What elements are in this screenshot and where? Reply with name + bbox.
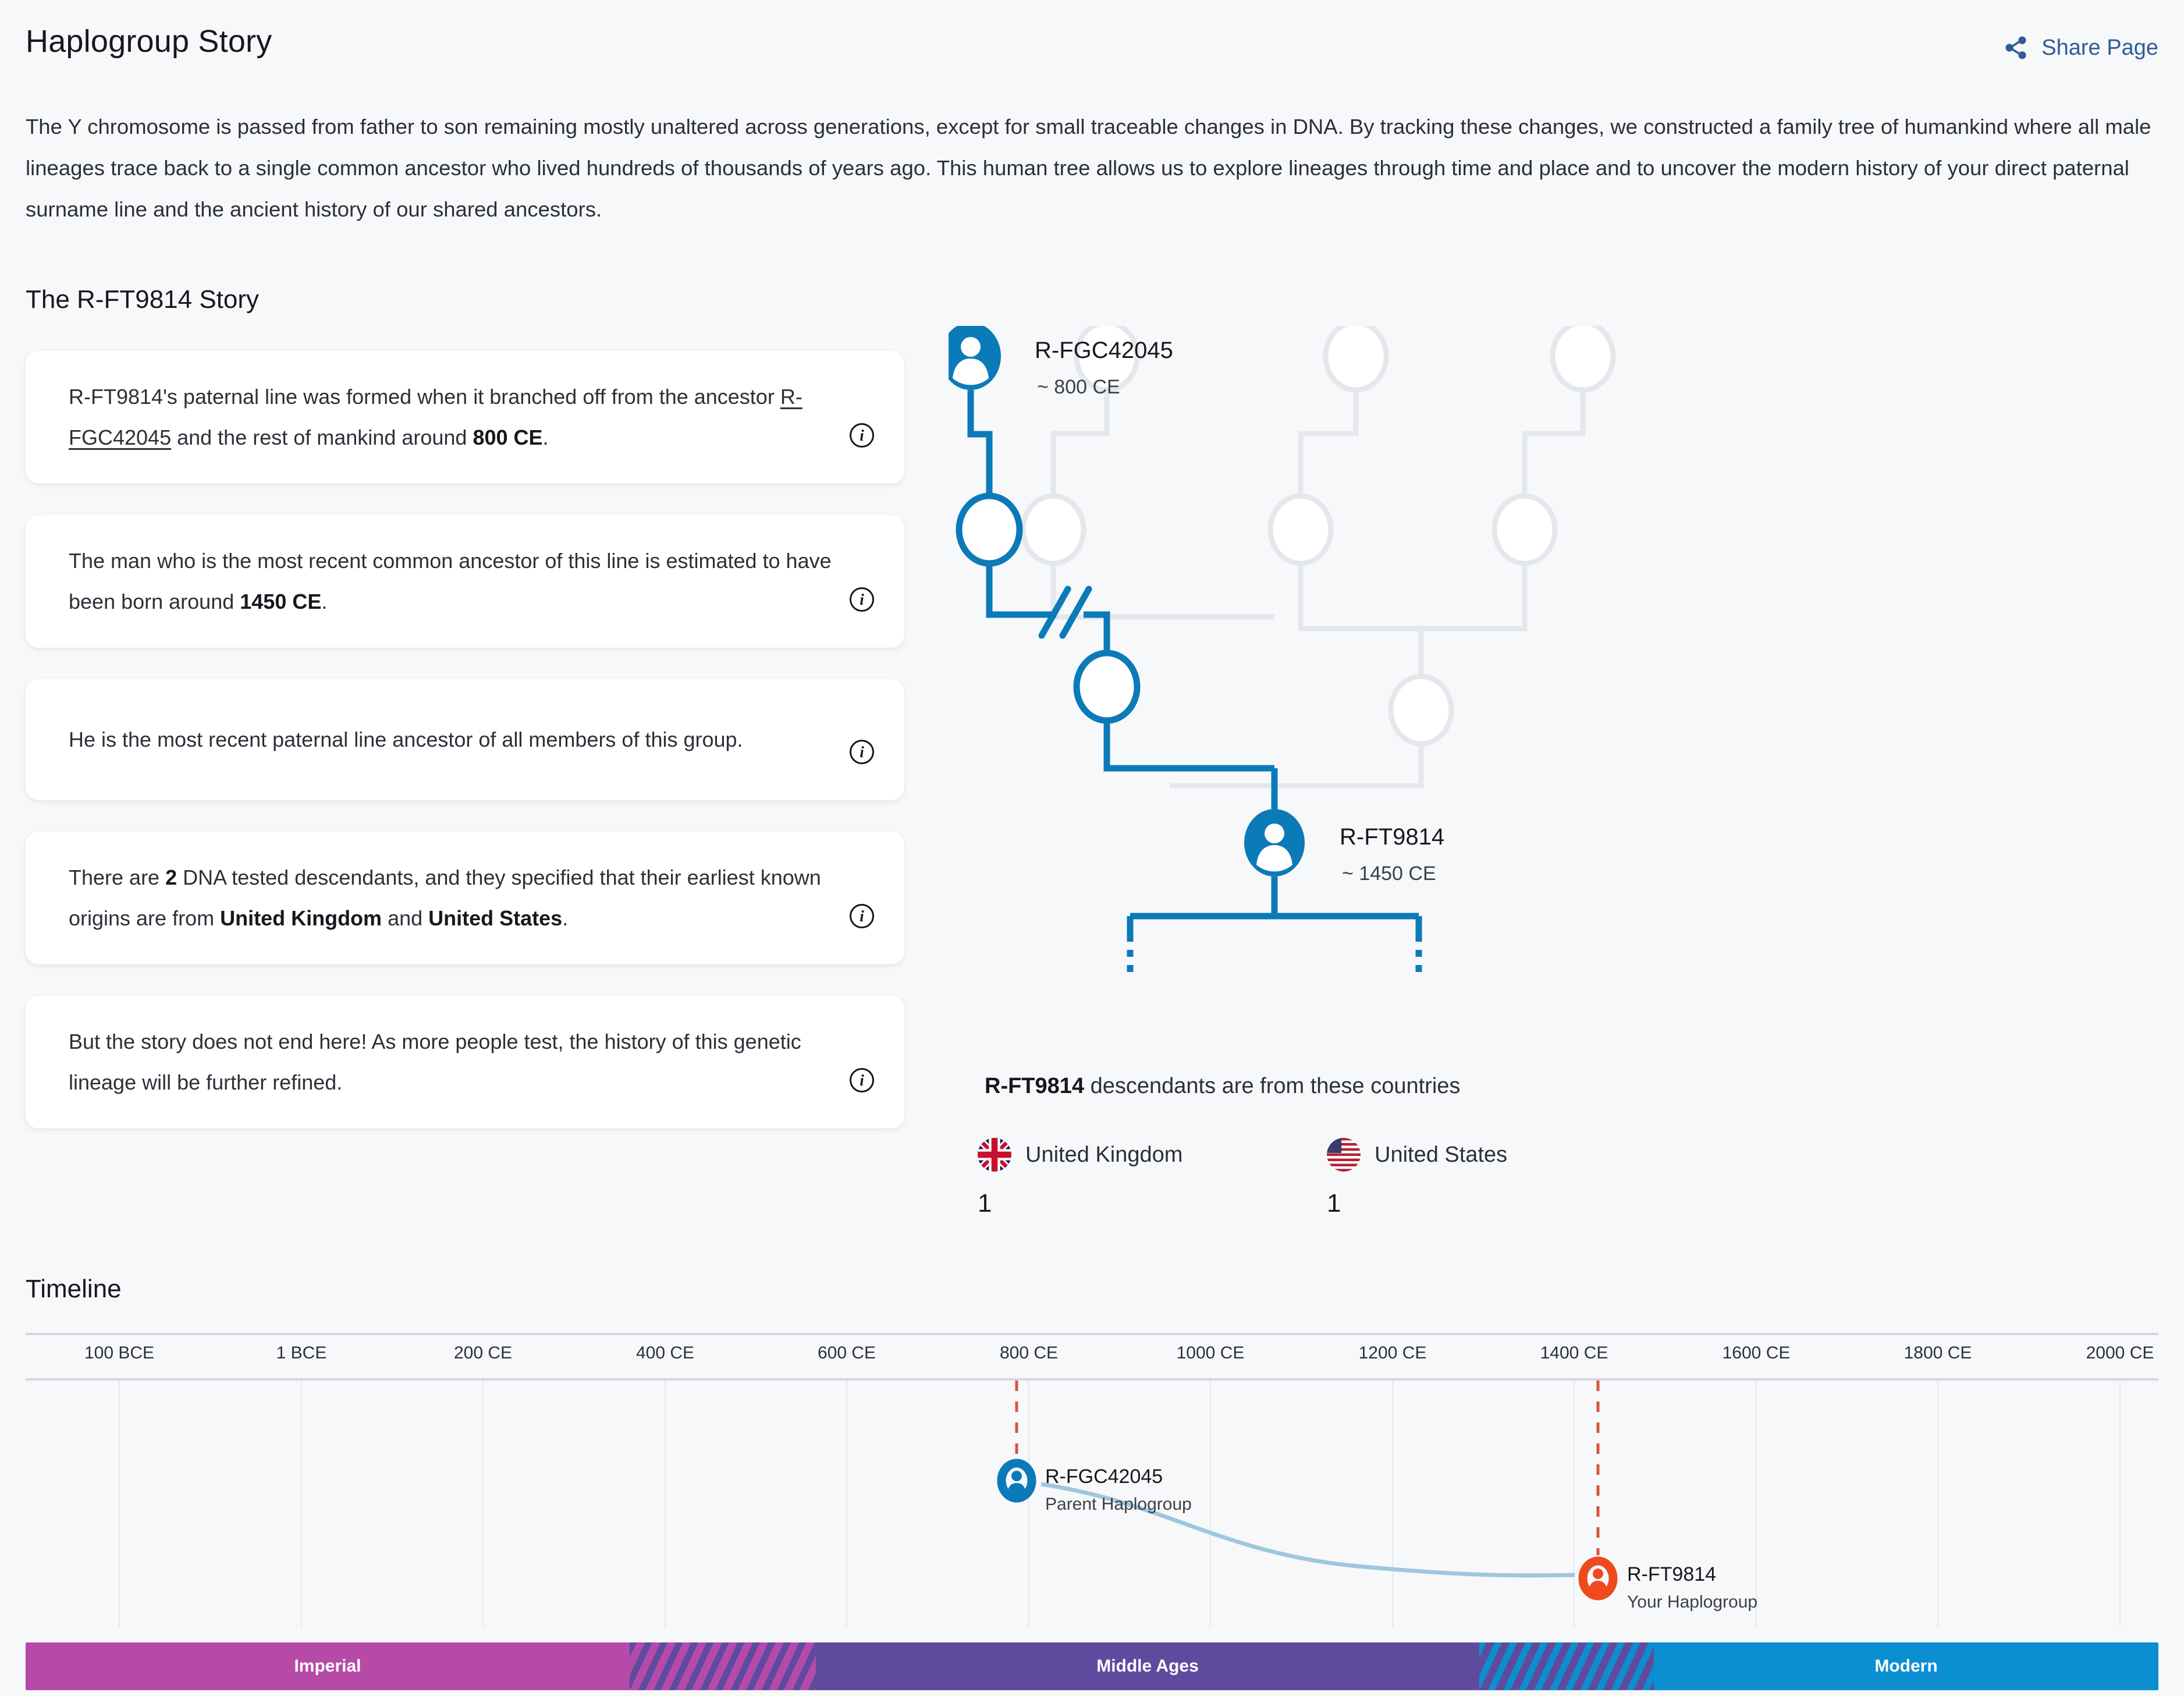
tree-descendant-dashes	[1130, 935, 1419, 972]
flag-united-states-icon	[1327, 1138, 1361, 1172]
intro-paragraph: The Y chromosome is passed from father t…	[26, 106, 2162, 230]
story-card-emphasis: United States	[428, 906, 562, 930]
era-label: Middle Ages	[1096, 1656, 1199, 1676]
tree-node-muted	[1326, 326, 1386, 390]
country-count: 1	[1327, 1189, 1571, 1218]
tree-parent-label: R-FGC42045	[1035, 338, 1173, 364]
share-page-label: Share Page	[2041, 36, 2158, 61]
timeline-tick-label: 1600 CE	[1723, 1343, 1791, 1363]
share-icon	[2003, 35, 2029, 61]
tree-node-intermediate-2[interactable]	[1077, 653, 1137, 721]
timeline-tick-label: 100 BCE	[84, 1343, 154, 1363]
page-header: Haplogroup Story Share Page	[0, 0, 2184, 87]
story-card: There are 2 DNA tested descendants, and …	[26, 832, 904, 964]
timeline-tick-label: 1000 CE	[1177, 1343, 1245, 1363]
story-card-emphasis: United Kingdom	[220, 906, 382, 930]
story-card-text-run: But the story does not end here! As more…	[69, 1030, 801, 1094]
story-card-emphasis: 1450 CE	[240, 590, 321, 613]
story-card-text-run: The man who is the most recent common an…	[69, 549, 832, 613]
era-transition	[630, 1642, 816, 1690]
story-card-text: The man who is the most recent common an…	[69, 541, 834, 622]
flag-united-kingdom-icon	[978, 1138, 1011, 1172]
era-label: Imperial	[294, 1656, 361, 1676]
timeline-tick-label: 1 BCE	[276, 1343, 327, 1363]
era-segment: Modern	[1654, 1642, 2158, 1690]
story-card-text: He is the most recent paternal line ance…	[69, 719, 743, 760]
story-card-emphasis: 800 CE	[473, 425, 542, 449]
countries-heading-rest: descendants are from these countries	[1084, 1074, 1460, 1098]
country-list: United Kingdom1United States1	[978, 1138, 1571, 1218]
story-card: He is the most recent paternal line ance…	[26, 679, 904, 800]
tree-node-muted	[1391, 676, 1451, 744]
story-card-text-run: .	[543, 425, 549, 449]
timeline-parent-role: Parent Haplogroup	[1045, 1495, 1192, 1514]
timeline-tick-label: 200 CE	[454, 1343, 512, 1363]
country-name: United Kingdom	[1025, 1143, 1182, 1168]
tree-node-muted	[1494, 496, 1555, 563]
share-page-button[interactable]: Share Page	[2003, 35, 2158, 61]
era-transition	[1479, 1642, 1654, 1690]
info-icon[interactable]: i	[850, 587, 874, 612]
timeline-tick-label: 1200 CE	[1359, 1343, 1427, 1363]
story-card-text: But the story does not end here! As more…	[69, 1021, 834, 1103]
story-card-text: There are 2 DNA tested descendants, and …	[69, 857, 834, 939]
haplogroup-story-page: Haplogroup Story Share Page The Y chromo…	[0, 0, 2184, 1696]
tree-focus-label: R-FT9814	[1340, 824, 1444, 850]
tree-descendant-bracket	[1130, 877, 1419, 935]
timeline-parent-name: R-FGC42045	[1045, 1466, 1163, 1488]
tree-node-muted	[1553, 326, 1613, 390]
timeline-tick-label: 800 CE	[1000, 1343, 1058, 1363]
story-card-list: R-FT9814's paternal line was formed when…	[26, 351, 904, 1160]
timeline-tick-label: 2000 CE	[2086, 1343, 2154, 1363]
country-row: United States	[1327, 1138, 1571, 1172]
story-section-title: The R-FT9814 Story	[26, 285, 259, 314]
era-segment: Middle Ages	[816, 1642, 1479, 1690]
tree-node-intermediate-1[interactable]	[959, 496, 1020, 563]
timeline-era-bar: ImperialMiddle AgesModern	[26, 1642, 2158, 1690]
info-icon[interactable]: i	[850, 423, 874, 448]
countries-heading: R-FT9814 descendants are from these coun…	[985, 1074, 1460, 1099]
info-icon[interactable]: i	[850, 904, 874, 928]
story-card-text-run: .	[321, 590, 327, 613]
story-card-emphasis: 2	[165, 865, 177, 889]
story-card: The man who is the most recent common an…	[26, 515, 904, 648]
haplogroup-tree: R-FGC42045 ~ 800 CE R-FT9814 ~ 1450 CE	[949, 326, 2159, 1036]
timeline-tick-label: 1400 CE	[1540, 1343, 1608, 1363]
info-icon[interactable]: i	[850, 740, 874, 764]
timeline-tick-label: 600 CE	[818, 1343, 876, 1363]
country-row: United Kingdom	[978, 1138, 1222, 1172]
info-icon[interactable]: i	[850, 1068, 874, 1092]
country-entry: United States1	[1327, 1138, 1571, 1218]
story-card-text-run: and the rest of mankind around	[171, 425, 473, 449]
country-name: United States	[1375, 1143, 1507, 1168]
timeline-tick-label: 400 CE	[636, 1343, 694, 1363]
story-card-text-run: and	[382, 906, 428, 930]
story-card-text-run: He is the most recent paternal line ance…	[69, 728, 743, 751]
story-card-text: R-FT9814's paternal line was formed when…	[69, 377, 834, 458]
page-title: Haplogroup Story	[26, 23, 272, 59]
tree-active-edges	[971, 390, 1274, 809]
timeline-node-parent[interactable]	[1002, 1463, 1032, 1498]
country-entry: United Kingdom1	[978, 1138, 1222, 1218]
timeline-plot-area: R-FGC42045 Parent Haplogroup R-FT9814 Yo…	[26, 1381, 2158, 1627]
story-card: R-FT9814's paternal line was formed when…	[26, 351, 904, 484]
story-card-text-run: R-FT9814's paternal line was formed when…	[69, 385, 780, 409]
story-card-text-run: .	[562, 906, 568, 930]
tree-node-muted	[1023, 496, 1084, 563]
tree-muted-edges	[1053, 387, 1583, 786]
countries-heading-haplogroup: R-FT9814	[985, 1074, 1084, 1098]
tree-parent-date: ~ 800 CE	[1037, 376, 1120, 399]
timeline-focus-name: R-FT9814	[1627, 1563, 1716, 1586]
tree-node-parent[interactable]	[949, 326, 1001, 390]
tree-node-focus[interactable]	[1244, 809, 1305, 877]
tree-node-muted	[1270, 496, 1331, 563]
story-card-text-run: There are	[69, 865, 165, 889]
timeline-section-title: Timeline	[26, 1275, 122, 1304]
timeline-tick-label: 1800 CE	[1904, 1343, 1972, 1363]
timeline-focus-role: Your Haplogroup	[1627, 1592, 1757, 1612]
era-segment: Imperial	[26, 1642, 630, 1690]
timeline-node-focus[interactable]	[1583, 1561, 1613, 1596]
tree-svg	[949, 326, 2159, 1036]
story-card: But the story does not end here! As more…	[26, 996, 904, 1129]
era-label: Modern	[1874, 1656, 1937, 1676]
timeline-tick-axis: 100 BCE1 BCE200 CE400 CE600 CE800 CE1000…	[26, 1333, 2158, 1377]
country-count: 1	[978, 1189, 1222, 1218]
tree-focus-date: ~ 1450 CE	[1342, 863, 1436, 885]
